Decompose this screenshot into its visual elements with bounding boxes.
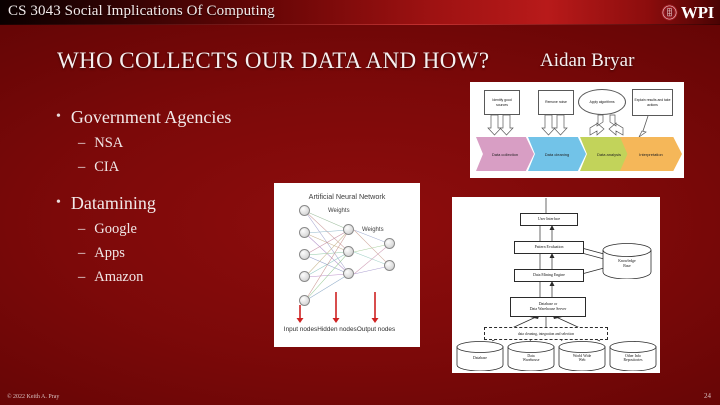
pipeline-callout-identify-sources: Identify good sources xyxy=(484,90,520,115)
nn-output-node xyxy=(384,238,395,249)
author-name: Aidan Bryar xyxy=(540,50,634,72)
arch-cylinder-world-wide-web: World Wide Web xyxy=(558,341,606,371)
pipeline-stage-interpretation: Interpretation xyxy=(620,137,682,171)
arch-box-pattern-evaluation: Pattern Evaluation xyxy=(514,241,584,254)
sub-bullet-nsa: – NSA xyxy=(78,134,291,152)
arch-source-label: Warehouse xyxy=(523,358,540,362)
sub-bullet-label: Apps xyxy=(94,244,125,262)
sub-bullet-marker: – xyxy=(78,158,85,176)
pipeline-callout-explain-results: Explain results and take actions xyxy=(632,89,673,116)
nn-hidden-node xyxy=(343,268,354,279)
sub-bullet-marker: – xyxy=(78,244,85,262)
sub-bullet-cia: – CIA xyxy=(78,158,291,176)
arch-cylinder-knowledge-base: Knowledge Base xyxy=(602,243,652,279)
bullet-list: • Government Agencies – NSA – CIA • Data… xyxy=(56,106,291,286)
footer-page-number: 24 xyxy=(704,392,711,400)
wpi-seal-icon xyxy=(661,4,678,21)
sub-bullet-marker: – xyxy=(78,268,85,286)
sub-bullet-label: Google xyxy=(94,220,137,238)
sub-bullet-marker: – xyxy=(78,134,85,152)
arch-preprocessing-step: data cleaning, integration and selection xyxy=(484,327,608,340)
arch-cylinder-data-warehouse: Data Warehouse xyxy=(507,341,555,371)
nn-hidden-node xyxy=(343,246,354,257)
nn-input-node xyxy=(299,295,310,306)
footer-copyright: © 2022 Keith A. Pray xyxy=(7,394,59,400)
wpi-logo: WPI xyxy=(661,1,714,24)
nn-hidden-node xyxy=(343,224,354,235)
neural-network-image: Artificial Neural Network xyxy=(274,183,420,347)
nn-input-node xyxy=(299,205,310,216)
arch-box-data-mining-engine: Data Mining Engine xyxy=(514,269,584,282)
course-title: CS 3043 Social Implications Of Computing xyxy=(8,3,275,20)
sub-bullet-label: Amazon xyxy=(94,268,143,286)
bullet-marker: • xyxy=(56,106,61,128)
nn-output-node xyxy=(384,260,395,271)
arch-source-label: Web xyxy=(579,358,586,362)
bullet-item-datamining: • Datamining xyxy=(56,192,291,214)
bullet-label: Datamining xyxy=(71,192,156,214)
nn-input-node xyxy=(299,227,310,238)
pipeline-stage-data-cleaning: Data cleaning xyxy=(528,137,586,171)
bullet-label: Government Agencies xyxy=(71,106,231,128)
bullet-marker: • xyxy=(56,192,61,214)
sub-bullet-apps: – Apps xyxy=(78,244,291,262)
bullet-item-government-agencies: • Government Agencies xyxy=(56,106,291,128)
arch-box-database-server-line2: Data Warehouse Server xyxy=(530,307,567,312)
sub-bullet-google: – Google xyxy=(78,220,291,238)
nn-output-nodes-label: Output nodes xyxy=(353,326,399,334)
arch-box-user-interface: User Interface xyxy=(520,213,578,226)
wpi-logo-text: WPI xyxy=(681,4,714,21)
pipeline-callout-remove-noise: Remove noise xyxy=(538,90,574,115)
pipeline-stage-data-collection: Data collection xyxy=(476,137,534,171)
page-title: WHO COLLECTS OUR DATA AND HOW? xyxy=(57,48,489,74)
sub-bullet-amazon: – Amazon xyxy=(78,268,291,286)
sub-bullet-label: NSA xyxy=(94,134,123,152)
arch-cylinder-other-info-repositories: Other Info Repositories xyxy=(609,341,657,371)
nn-weights-label-1: Weights xyxy=(328,208,350,214)
arch-source-label: Repositories xyxy=(624,358,643,362)
nn-input-node xyxy=(299,249,310,260)
nn-weights-label-2: Weights xyxy=(362,227,384,233)
arch-source-label: Database xyxy=(473,356,487,360)
arch-knowledge-base-line2: Base xyxy=(623,264,630,268)
data-pipeline-image: Identify good sources Remove noise Apply… xyxy=(470,82,684,178)
arch-cylinder-database: Database xyxy=(456,341,504,371)
sub-bullet-label: CIA xyxy=(94,158,119,176)
data-mining-architecture-image: User Interface Pattern Evaluation Data M… xyxy=(452,197,660,373)
pipeline-callout-apply-algorithms: Apply algorithms xyxy=(578,89,626,115)
arch-box-database-server: Database or Data Warehouse Server xyxy=(510,297,586,317)
nn-input-node xyxy=(299,271,310,282)
sub-bullet-marker: – xyxy=(78,220,85,238)
slide-header-bar: CS 3043 Social Implications Of Computing… xyxy=(0,0,720,25)
presentation-slide: CS 3043 Social Implications Of Computing… xyxy=(0,0,720,405)
